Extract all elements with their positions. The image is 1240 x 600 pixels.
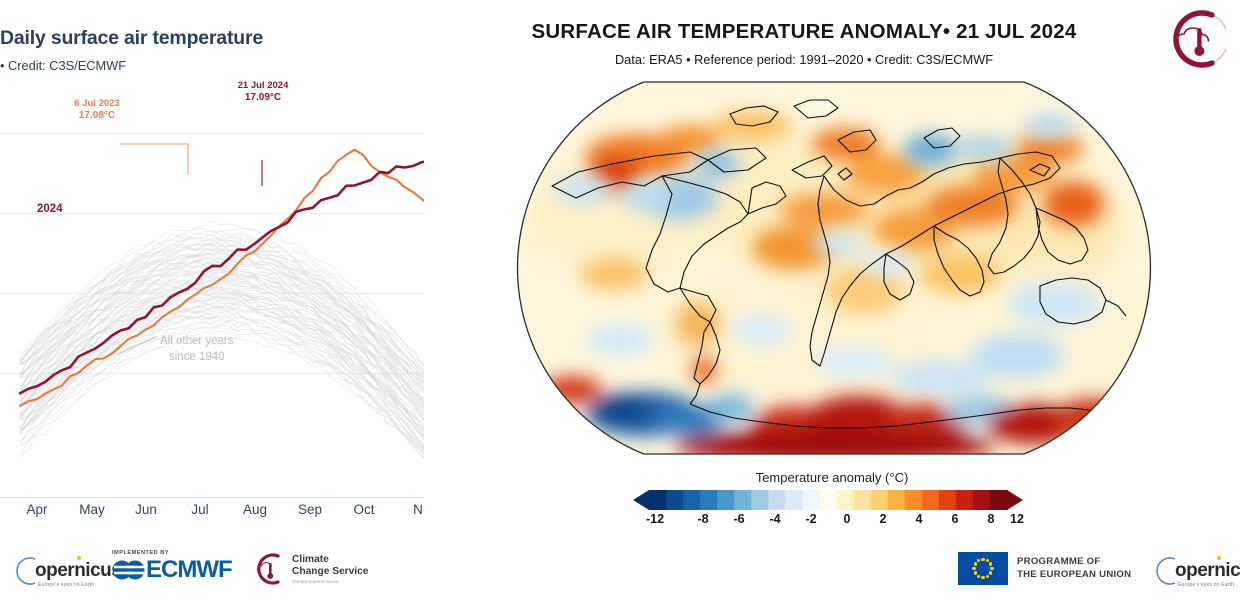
ccs-text: ClimateChange Serviceclimate.copernicus.…	[292, 554, 368, 584]
map-title: SURFACE AIR TEMPERATURE ANOMALY• 21 JUL …	[424, 20, 1184, 44]
left-chart-panel: Daily surface air temperature • Credit: …	[0, 0, 424, 600]
chart-series-svg	[0, 86, 424, 498]
ccs-line1: Climate	[292, 554, 368, 566]
colorbar-tick: 4	[916, 512, 923, 526]
colorbar-tick: -4	[769, 512, 780, 526]
footer-logos-right: PROGRAMME OFTHE EUROPEAN UNIONopernicusE…	[848, 542, 1240, 600]
daily-temperature-figure: Daily surface air temperature • Credit: …	[0, 0, 424, 600]
ecmwf-mark-icon	[112, 557, 146, 583]
month-label-aug: Aug	[243, 502, 267, 517]
colorbar-cell	[973, 490, 991, 510]
annotation-peak-2024: 21 Jul 2024 17.09°C	[222, 80, 304, 104]
colorbar-cell	[802, 490, 820, 510]
left-panel-subtitle: • Credit: C3S/ECMWF	[0, 58, 126, 73]
copernicus-logo: opernicusEurope's eyes on Earth	[1148, 554, 1240, 588]
map-anomaly-field	[494, 78, 1174, 458]
colorbar-cell	[905, 490, 923, 510]
ccs-line2: Change Service	[292, 566, 368, 578]
climate-change-service-logo: ClimateChange Serviceclimate.copernicus.…	[250, 552, 368, 586]
colorbar-cell	[990, 490, 1008, 510]
colorbar-cell	[888, 490, 906, 510]
month-label-n: N	[413, 502, 423, 517]
colorbar-cell	[871, 490, 889, 510]
copernicus-swoosh-icon	[8, 554, 38, 588]
colorbar-tick: -2	[805, 512, 816, 526]
colorbar-cap-max	[1007, 490, 1023, 510]
copernicus-swoosh-icon	[1148, 554, 1178, 588]
colorbar-cell	[785, 490, 803, 510]
colorbar-tick: -6	[733, 512, 744, 526]
colorbar-tick: 2	[880, 512, 887, 526]
ecmwf-wordmark: ECMWF	[146, 558, 232, 582]
map-subtitle: Data: ERA5 • Reference period: 1991–2020…	[424, 52, 1184, 67]
colorbar-cell	[666, 490, 684, 510]
footer-logos-left: PROGRAMME OFTHE EUROPEAN UNIONopernicusE…	[0, 542, 424, 600]
month-label-apr: Apr	[26, 502, 47, 517]
colorbar-cell	[837, 490, 855, 510]
colorbar-tick: 8	[988, 512, 995, 526]
colorbar	[633, 489, 1023, 511]
colorbar-cell	[819, 490, 837, 510]
ecmwf-logo: IMPLEMENTED BYECMWF	[112, 550, 232, 583]
month-label-sep: Sep	[298, 502, 322, 517]
colorbar-tick: -8	[697, 512, 708, 526]
c3s-logo-icon	[1162, 8, 1226, 70]
colorbar-cells	[633, 490, 1023, 510]
leader-line-2023	[120, 144, 188, 174]
ccs-url: climate.copernicus.eu	[292, 579, 368, 585]
left-panel-title: Daily surface air temperature	[0, 27, 263, 50]
copernicus-wordmark: opernicus	[1175, 561, 1240, 580]
colorbar-cell	[700, 490, 718, 510]
month-label-jul: Jul	[191, 502, 208, 517]
colorbar-cell	[768, 490, 786, 510]
map-svg	[494, 78, 1174, 458]
colorbar-cell	[717, 490, 735, 510]
right-map-panel: SURFACE AIR TEMPERATURE ANOMALY• 21 JUL …	[424, 0, 1240, 600]
colorbar-cap-min	[633, 490, 649, 510]
month-label-may: May	[79, 502, 105, 517]
chart-plot-area: 21 Jul 2024 17.09°C 6 Jul 2023 17.08°C 2…	[0, 86, 424, 498]
colorbar-cell	[751, 490, 769, 510]
colorbar-tick-labels: -12-8-6-4-20246812	[633, 512, 1023, 530]
colorbar-title: Temperature anomaly (°C)	[424, 470, 1240, 485]
colorbar-cell	[683, 490, 701, 510]
colorbar-tick: 6	[952, 512, 959, 526]
ccs-badge-icon	[250, 552, 286, 586]
colorbar-cell	[956, 490, 974, 510]
world-anomaly-map	[494, 78, 1174, 458]
label-other-years: All other years since 1940	[160, 334, 234, 365]
colorbar-tick: 12	[1010, 512, 1024, 526]
copernicus-wordmark: opernicus	[35, 561, 121, 580]
colorbar-cell	[922, 490, 940, 510]
colorbar-cell	[854, 490, 872, 510]
copernicus-logo: opernicusEurope's eyes on Earth	[8, 554, 121, 588]
eu-flag-icon	[958, 552, 1008, 585]
eu-programme-text: PROGRAMME OFTHE EUROPEAN UNION	[1017, 556, 1131, 581]
colorbar-cell	[734, 490, 752, 510]
colorbar-tick: 0	[844, 512, 851, 526]
series-label-2024: 2024	[37, 203, 63, 215]
colorbar-tick: -12	[646, 512, 664, 526]
annotation-peak-2023: 6 Jul 2023 17.08°C	[56, 98, 138, 122]
screenshot-root: Daily surface air temperature • Credit: …	[0, 0, 1240, 600]
copernicus-tagline: Europe's eyes on Earth	[38, 582, 121, 588]
copernicus-tagline: Europe's eyes on Earth	[1178, 582, 1240, 588]
colorbar-cell	[939, 490, 957, 510]
eu-programme-logo: PROGRAMME OFTHE EUROPEAN UNION	[958, 552, 1131, 585]
colorbar-cell	[649, 490, 667, 510]
month-label-jun: Jun	[135, 502, 157, 517]
month-label-oct: Oct	[353, 502, 374, 517]
x-axis-month-labels: AprMayJunJulAugSepOctN	[0, 502, 424, 528]
